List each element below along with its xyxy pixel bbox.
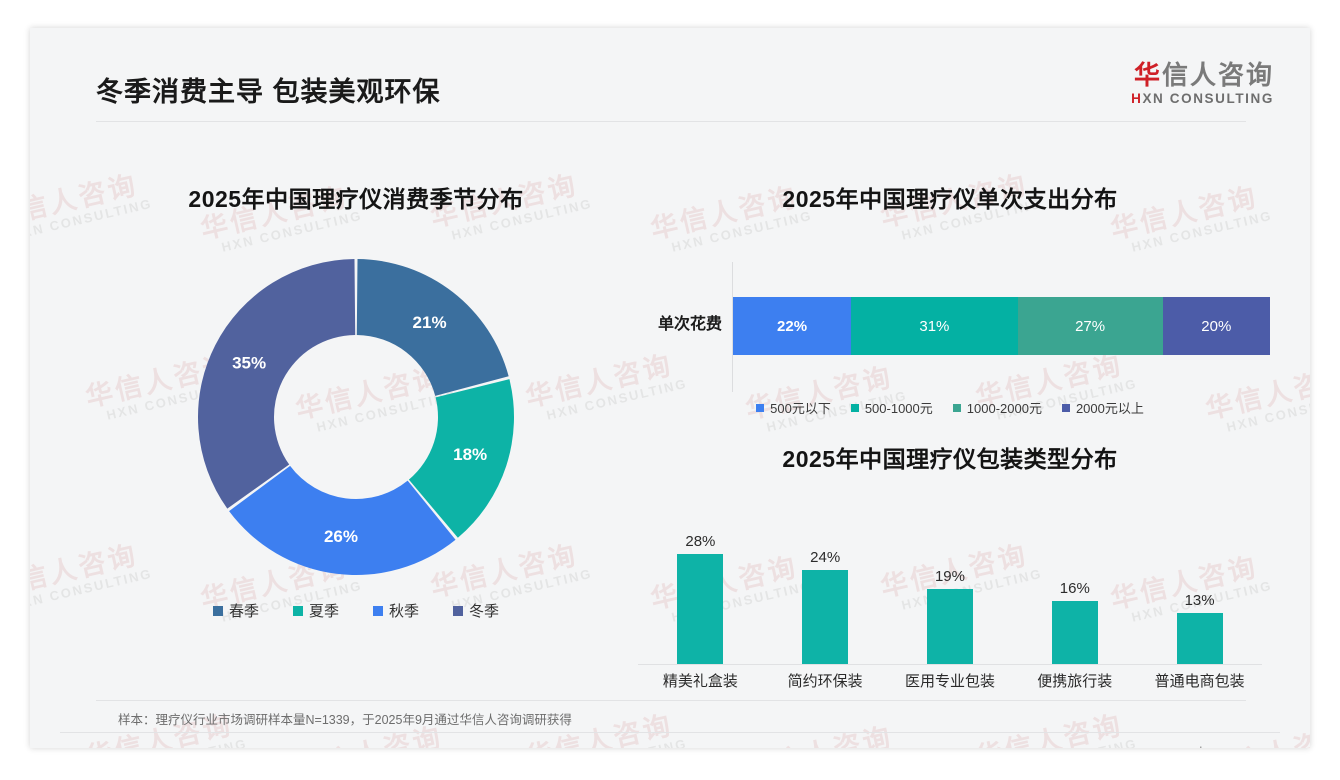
footnote-text: 样本：理疗仪行业市场调研样本量N=1339，于2025年9月通过华信人咨询调研获… bbox=[118, 709, 572, 728]
legend-swatch-icon bbox=[373, 606, 383, 616]
column-bar[interactable] bbox=[802, 570, 848, 664]
logo-chinese-rest: 信人咨询 bbox=[1162, 60, 1274, 90]
column-item[interactable]: 24% bbox=[767, 518, 883, 664]
column-category-labels: 精美礼盒装简约环保装医用专业包装便携旅行装普通电商包装 bbox=[638, 667, 1262, 693]
stacked-bar-chart: 单次花费 22%31%27%20% bbox=[630, 262, 1270, 392]
watermark-tile: 华信人咨询HXN CONSULTING bbox=[971, 701, 1138, 748]
donut-legend-item[interactable]: 秋季 bbox=[373, 600, 419, 621]
legend-swatch-icon bbox=[213, 606, 223, 616]
donut-slice[interactable] bbox=[198, 259, 355, 509]
donut-legend: 春季夏季秋季冬季 bbox=[96, 600, 616, 621]
donut-slice-label: 35% bbox=[232, 354, 266, 373]
donut-legend-label: 冬季 bbox=[469, 600, 499, 621]
chart-title-season: 2025年中国理疗仪消费季节分布 bbox=[96, 180, 616, 214]
donut-slice-label: 18% bbox=[453, 445, 487, 464]
donut-legend-item[interactable]: 春季 bbox=[213, 600, 259, 621]
column-bar[interactable] bbox=[677, 554, 723, 664]
watermark-tile: 华信人咨询HXN CONSULTING bbox=[741, 713, 908, 748]
chart-title-spend: 2025年中国理疗仪单次支出分布 bbox=[630, 180, 1270, 214]
column-item[interactable]: 28% bbox=[642, 518, 758, 664]
chart-title-package: 2025年中国理疗仪包装类型分布 bbox=[630, 440, 1270, 474]
column-category-label: 精美礼盒装 bbox=[642, 670, 758, 691]
column-bar[interactable] bbox=[1052, 601, 1098, 664]
column-value-label: 24% bbox=[810, 549, 840, 566]
stacked-bar-legend: 500元以下500-1000元1000-2000元2000元以上 bbox=[630, 398, 1270, 417]
watermark-chinese: 华信人咨询 bbox=[971, 701, 1136, 748]
chart-panel-spend-stacked: 2025年中国理疗仪单次支出分布 单次花费 22%31%27%20% 500元以… bbox=[630, 180, 1270, 410]
column-value-label: 13% bbox=[1185, 592, 1215, 609]
column-bars: 28%24%19%16%13% bbox=[638, 518, 1262, 664]
logo-chinese-accent: 华 bbox=[1134, 60, 1162, 90]
slide-canvas: 华信人咨询HXN CONSULTING华信人咨询HXN CONSULTING华信… bbox=[30, 28, 1310, 748]
donut-legend-label: 秋季 bbox=[389, 600, 419, 621]
column-bar[interactable] bbox=[927, 589, 973, 664]
chart-panel-season-donut: 2025年中国理疗仪消费季节分布 21%18%26%35% 春季夏季秋季冬季 bbox=[96, 180, 616, 680]
donut-svg: 21%18%26%35% bbox=[191, 252, 521, 582]
watermark-english: HXN CONSULTING bbox=[545, 736, 689, 748]
donut-slice-label: 21% bbox=[413, 313, 447, 332]
column-value-label: 19% bbox=[935, 568, 965, 585]
slide-header: 冬季消费主导 包装美观环保 华信人咨询 HXN CONSULTING bbox=[30, 28, 1310, 124]
legend-swatch-icon bbox=[851, 404, 859, 412]
stacked-bar-segment[interactable]: 27% bbox=[1018, 297, 1163, 355]
column-item[interactable]: 19% bbox=[892, 518, 1008, 664]
stacked-bar-segment[interactable]: 22% bbox=[733, 297, 851, 355]
footer-divider bbox=[60, 732, 1280, 733]
donut-slice-label: 26% bbox=[324, 527, 358, 546]
column-value-label: 16% bbox=[1060, 580, 1090, 597]
column-value-label: 28% bbox=[685, 533, 715, 550]
watermark-chinese: 华信人咨询 bbox=[1201, 713, 1310, 748]
footer-copyright: ©2025.11 HXR华信人咨询 bbox=[96, 745, 242, 748]
legend-swatch-icon bbox=[293, 606, 303, 616]
logo-english-rest: XN CONSULTING bbox=[1142, 91, 1274, 106]
stacked-bar-track: 22%31%27%20% bbox=[733, 297, 1270, 355]
stacked-bar-row-label: 单次花费 bbox=[630, 310, 722, 334]
stacked-legend-label: 1000-2000元 bbox=[967, 398, 1042, 417]
stacked-legend-item[interactable]: 1000-2000元 bbox=[953, 398, 1042, 417]
column-category-label: 普通电商包装 bbox=[1142, 670, 1258, 691]
column-baseline bbox=[638, 664, 1262, 665]
header-divider bbox=[96, 121, 1246, 122]
donut-legend-item[interactable]: 夏季 bbox=[293, 600, 339, 621]
legend-swatch-icon bbox=[1062, 404, 1070, 412]
page-title: 冬季消费主导 包装美观环保 bbox=[96, 70, 441, 109]
column-category-label: 医用专业包装 bbox=[892, 670, 1008, 691]
watermark-tile: 华信人咨询HXN CONSULTING bbox=[1201, 713, 1310, 748]
watermark-chinese: 华信人咨询 bbox=[741, 713, 906, 748]
stacked-legend-item[interactable]: 500元以下 bbox=[756, 398, 831, 417]
chart-panel-package-column: 2025年中国理疗仪包装类型分布 28%24%19%16%13% 精美礼盒装简约… bbox=[630, 440, 1270, 705]
column-bar[interactable] bbox=[1177, 613, 1223, 664]
column-category-label: 简约环保装 bbox=[767, 670, 883, 691]
stacked-legend-label: 500-1000元 bbox=[865, 398, 933, 417]
brand-logo: 华信人咨询 HXN CONSULTING bbox=[1131, 61, 1274, 106]
footnote-divider bbox=[96, 700, 1246, 701]
stacked-bar-segment[interactable]: 20% bbox=[1163, 297, 1270, 355]
donut-legend-label: 夏季 bbox=[309, 600, 339, 621]
legend-swatch-icon bbox=[953, 404, 961, 412]
legend-swatch-icon bbox=[756, 404, 764, 412]
logo-chinese: 华信人咨询 bbox=[1131, 61, 1274, 89]
legend-swatch-icon bbox=[453, 606, 463, 616]
logo-english: HXN CONSULTING bbox=[1131, 91, 1274, 106]
watermark-english: HXN CONSULTING bbox=[995, 736, 1139, 748]
logo-english-accent: H bbox=[1131, 91, 1142, 106]
donut-legend-label: 春季 bbox=[229, 600, 259, 621]
stacked-legend-item[interactable]: 2000元以上 bbox=[1062, 398, 1144, 417]
donut-legend-item[interactable]: 冬季 bbox=[453, 600, 499, 621]
column-item[interactable]: 16% bbox=[1017, 518, 1133, 664]
column-category-label: 便携旅行装 bbox=[1017, 670, 1133, 691]
column-chart: 28%24%19%16%13% 精美礼盒装简约环保装医用专业包装便携旅行装普通电… bbox=[630, 508, 1270, 693]
stacked-legend-item[interactable]: 500-1000元 bbox=[851, 398, 933, 417]
stacked-legend-label: 2000元以上 bbox=[1076, 398, 1144, 417]
stacked-bar-segment[interactable]: 31% bbox=[851, 297, 1017, 355]
stacked-legend-label: 500元以下 bbox=[770, 398, 831, 417]
footer-website: www.hxrcon.com bbox=[1170, 745, 1264, 748]
donut-chart: 21%18%26%35% bbox=[191, 252, 521, 582]
column-item[interactable]: 13% bbox=[1142, 518, 1258, 664]
